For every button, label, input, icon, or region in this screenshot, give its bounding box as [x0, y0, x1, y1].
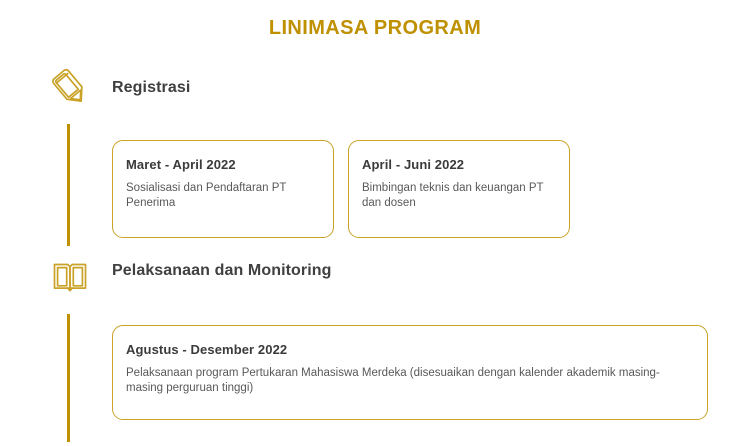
timeline-card: April - Juni 2022 Bimbingan teknis dan k… [348, 140, 570, 238]
card-body: Bimbingan teknis dan keuangan PT dan dos… [362, 181, 556, 210]
timeline-rail-registrasi [67, 124, 70, 246]
section-heading-registrasi: Registrasi [112, 79, 190, 97]
card-body: Pelaksanaan program Pertukaran Mahasiswa… [126, 366, 694, 395]
card-title: April - Juni 2022 [362, 157, 556, 172]
pencil-icon [50, 66, 90, 108]
page-title: LINIMASA PROGRAM [0, 17, 750, 40]
card-body: Sosialisasi dan Pendaftaran PT Penerima [126, 181, 320, 210]
card-title: Agustus - Desember 2022 [126, 342, 694, 357]
card-title: Maret - April 2022 [126, 157, 320, 172]
timeline-card: Maret - April 2022 Sosialisasi dan Penda… [112, 140, 334, 238]
timeline-card: Agustus - Desember 2022 Pelaksanaan prog… [112, 325, 708, 420]
open-book-icon [50, 258, 90, 300]
timeline-rail-pelaksanaan [67, 314, 70, 442]
section-heading-pelaksanaan: Pelaksanaan dan Monitoring [112, 262, 332, 280]
